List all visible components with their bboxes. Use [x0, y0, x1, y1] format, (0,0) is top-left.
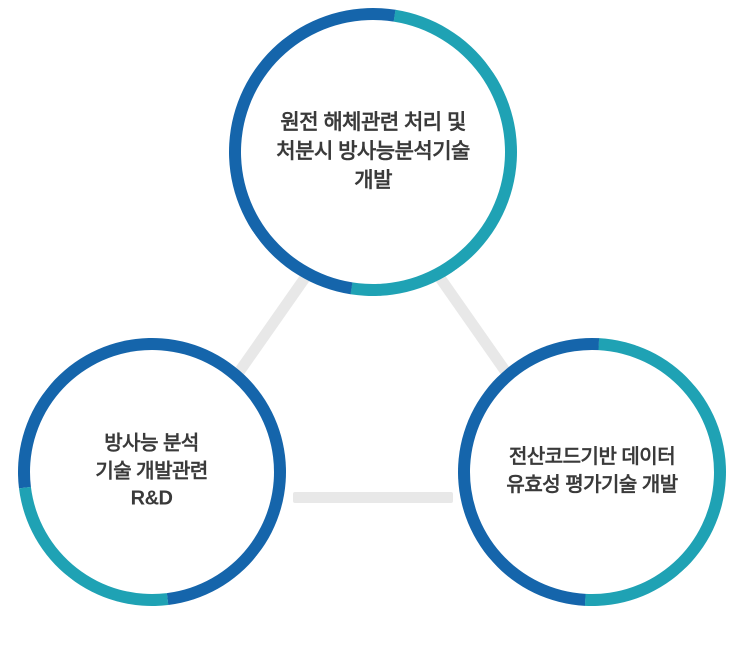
- node-top-label: 원전 해체관련 처리 및 처분시 방사능분석기술 개발: [266, 109, 480, 196]
- connector-top-left: [231, 266, 316, 380]
- node-left: 방사능 분석 기술 개발관련 R&D: [0, 284, 340, 660]
- connector-left-right: [293, 492, 453, 503]
- diagram-canvas: 원전 해체관련 처리 및 처분시 방사능분석기술 개발 방사능 분석 기술 개발…: [0, 0, 746, 635]
- node-left-label: 방사능 분석 기술 개발관련 R&D: [86, 431, 218, 514]
- node-right-label: 전산코드기반 데이터 유효성 평가기술 개발: [496, 444, 687, 499]
- node-top: 원전 해체관련 처리 및 처분시 방사능분석기술 개발: [172, 0, 574, 353]
- node-right: 전산코드기반 데이터 유효성 평가기술 개발: [403, 283, 746, 661]
- connector-top-right: [430, 266, 515, 380]
